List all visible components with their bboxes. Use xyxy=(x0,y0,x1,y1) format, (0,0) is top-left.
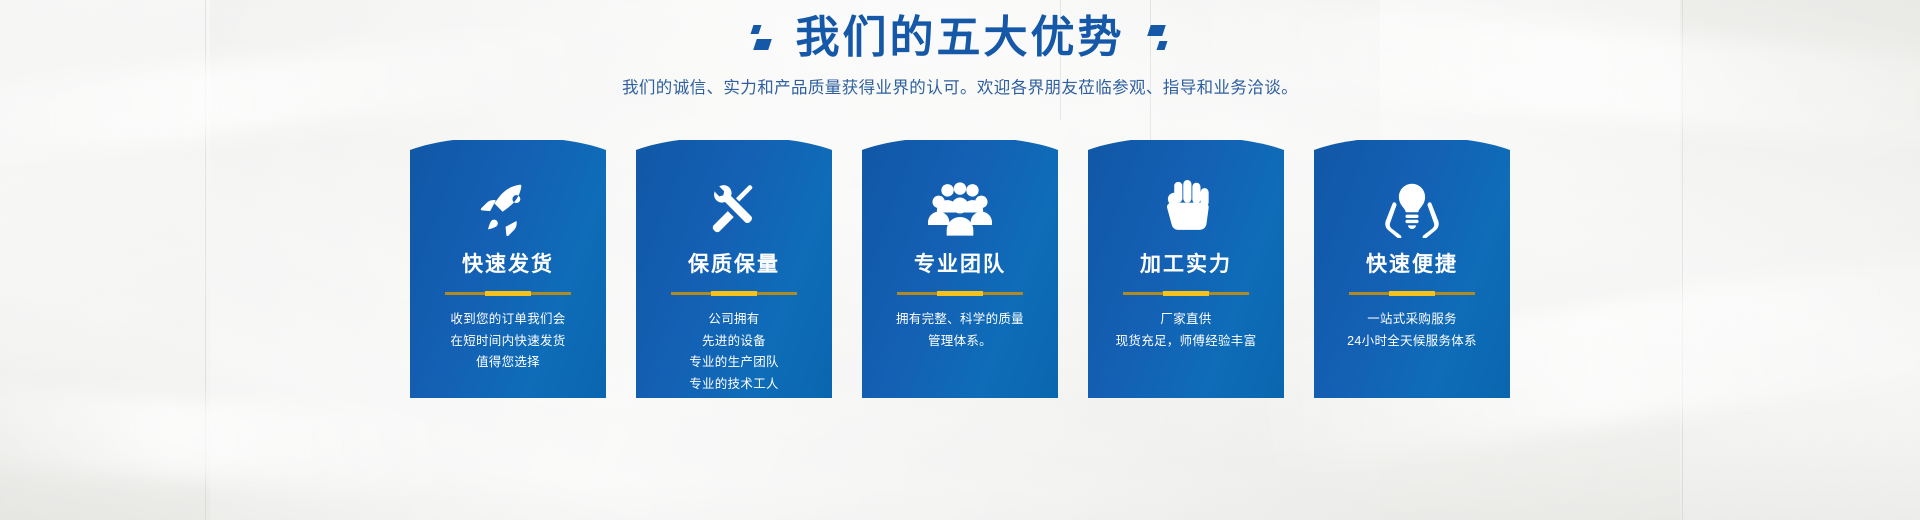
card-title: 快速发货 xyxy=(462,254,554,275)
card-description-line: 公司拥有 xyxy=(689,309,779,331)
advantage-card[interactable]: 保质保量 公司拥有 先进的设备 专业的生产团队 专业的技术工人 xyxy=(636,140,832,398)
advantage-card[interactable]: 快速发货 收到您的订单我们会 在短时间内快速发货 值得您选择 xyxy=(410,140,606,398)
card-divider xyxy=(897,292,1023,295)
card-description: 厂家直供 现货充足，师傅经验丰富 xyxy=(1110,309,1263,352)
fist-hand-icon xyxy=(1153,178,1219,240)
card-description-line: 收到您的订单我们会 xyxy=(450,309,565,331)
card-description: 拥有完整、科学的质量 管理体系。 xyxy=(890,309,1030,352)
card-description-line: 在短时间内快速发货 xyxy=(450,331,565,353)
card-description-line: 24小时全天候服务体系 xyxy=(1347,331,1477,353)
spark-right-icon xyxy=(1145,21,1171,55)
title-row: 我们的五大优势 xyxy=(750,16,1171,60)
card-description-line: 专业的生产团队 xyxy=(689,352,779,374)
advantage-card[interactable]: 专业团队 拥有完整、科学的质量 管理体系。 xyxy=(862,140,1058,398)
card-divider xyxy=(671,292,797,295)
card-title: 快速便捷 xyxy=(1366,254,1458,275)
background-streak-4 xyxy=(0,382,462,498)
card-description-line: 值得您选择 xyxy=(450,352,565,374)
spark-left-icon xyxy=(750,21,776,55)
card-description: 公司拥有 先进的设备 专业的生产团队 专业的技术工人 xyxy=(683,309,785,395)
card-divider xyxy=(1349,292,1475,295)
card-description-line: 专业的技术工人 xyxy=(689,374,779,396)
page-subtitle: 我们的诚信、实力和产品质量获得业界的认可。欢迎各界朋友莅临参观、指导和业务洽谈。 xyxy=(622,74,1298,98)
card-description: 收到您的订单我们会 在短时间内快速发货 值得您选择 xyxy=(444,309,571,374)
card-title: 保质保量 xyxy=(688,254,780,275)
card-description-line: 厂家直供 xyxy=(1116,309,1257,331)
card-description: 一站式采购服务 24小时全天候服务体系 xyxy=(1341,309,1483,352)
rocket-icon xyxy=(475,178,541,240)
team-people-icon xyxy=(927,178,993,240)
card-divider xyxy=(445,292,571,295)
advantage-card[interactable]: 快速便捷 一站式采购服务 24小时全天候服务体系 xyxy=(1314,140,1510,398)
lightbulb-in-hands-icon xyxy=(1379,178,1445,240)
card-description-line: 管理体系。 xyxy=(896,331,1024,353)
wrench-screwdriver-icon xyxy=(701,178,767,240)
card-divider xyxy=(1123,292,1249,295)
section-header: 我们的五大优势 我们的诚信、实力和产品质量获得业界的认可。欢迎各界朋友莅临参观、… xyxy=(0,0,1920,120)
card-description-line: 现货充足，师傅经验丰富 xyxy=(1116,331,1257,353)
advantage-card-list: 快速发货 收到您的订单我们会 在短时间内快速发货 值得您选择 保质保量 公 xyxy=(410,140,1510,398)
page-title: 我们的五大优势 xyxy=(796,16,1125,60)
card-description-line: 一站式采购服务 xyxy=(1347,309,1477,331)
card-title: 加工实力 xyxy=(1140,254,1232,275)
advantage-card[interactable]: 加工实力 厂家直供 现货充足，师傅经验丰富 xyxy=(1088,140,1284,398)
card-description-line: 拥有完整、科学的质量 xyxy=(896,309,1024,331)
card-description-line: 先进的设备 xyxy=(689,331,779,353)
card-title: 专业团队 xyxy=(914,254,1006,275)
